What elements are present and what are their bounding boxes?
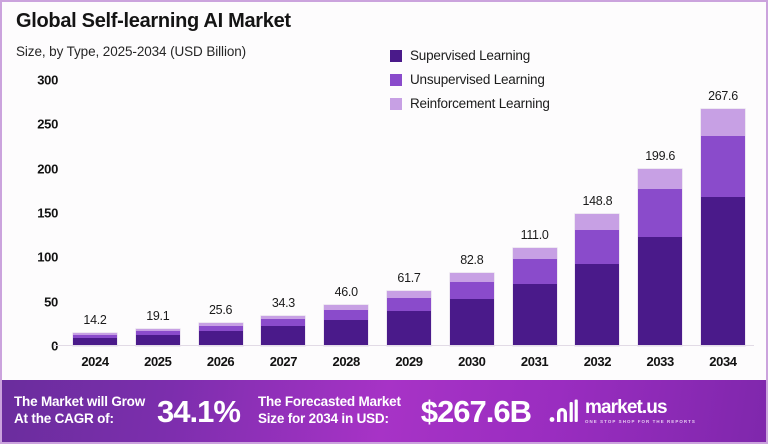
logo-tagline: ONE STOP SHOP FOR THE REPORTS bbox=[585, 419, 696, 424]
bar-group[interactable]: 199.6 bbox=[629, 80, 691, 346]
bar-segment[interactable] bbox=[701, 109, 745, 136]
x-axis-tick-label: 2027 bbox=[252, 354, 314, 378]
bar-segment[interactable] bbox=[450, 282, 494, 299]
bar-segment[interactable] bbox=[575, 230, 619, 264]
x-axis-tick-label: 2029 bbox=[378, 354, 440, 378]
x-axis-tick-label: 2026 bbox=[190, 354, 252, 378]
page-title: Global Self-learning AI Market bbox=[16, 10, 291, 33]
stacked-bar[interactable] bbox=[136, 329, 180, 346]
bar-segment[interactable] bbox=[450, 273, 494, 282]
x-axis-tick-label: 2028 bbox=[315, 354, 377, 378]
stacked-bar[interactable] bbox=[638, 169, 682, 346]
bar-group[interactable]: 111.0 bbox=[504, 80, 566, 346]
forecast-label-line2: Size for 2034 in USD: bbox=[258, 411, 401, 428]
market-us-logo[interactable]: market.us ONE STOP SHOP FOR THE REPORTS bbox=[549, 398, 696, 425]
chart-subtitle: Size, by Type, 2025-2034 (USD Billion) bbox=[16, 44, 246, 59]
stacked-bar[interactable] bbox=[199, 323, 243, 346]
stacked-bar[interactable] bbox=[450, 273, 494, 346]
y-axis-tick-label: 250 bbox=[37, 117, 58, 132]
bar-group[interactable]: 267.6 bbox=[692, 80, 754, 346]
x-axis-tick-label: 2025 bbox=[127, 354, 189, 378]
y-axis-tick-label: 300 bbox=[37, 73, 58, 88]
legend-item-label: Supervised Learning bbox=[410, 48, 530, 63]
bar-segment[interactable] bbox=[513, 248, 557, 260]
y-axis-tick-label: 50 bbox=[44, 294, 58, 309]
forecast-block: The Forecasted Market Size for 2034 in U… bbox=[240, 394, 531, 428]
x-axis-tick-label: 2024 bbox=[64, 354, 126, 378]
bar-group[interactable]: 19.1 bbox=[127, 80, 189, 346]
bar-group[interactable]: 61.7 bbox=[378, 80, 440, 346]
bar-total-label: 25.6 bbox=[209, 303, 232, 317]
y-axis-tick-label: 200 bbox=[37, 161, 58, 176]
bar-segment[interactable] bbox=[324, 310, 368, 320]
x-axis-tick-label: 2033 bbox=[629, 354, 691, 378]
stacked-bar[interactable] bbox=[324, 305, 368, 346]
bar-segment[interactable] bbox=[387, 311, 431, 346]
bar-segment[interactable] bbox=[513, 259, 557, 284]
bar-total-label: 34.3 bbox=[272, 296, 295, 310]
forecast-label-line1: The Forecasted Market bbox=[258, 394, 401, 411]
bar-segment[interactable] bbox=[387, 298, 431, 311]
stacked-bar[interactable] bbox=[261, 316, 305, 346]
cagr-value: 34.1% bbox=[157, 396, 240, 427]
x-axis-tick-label: 2032 bbox=[566, 354, 628, 378]
legend-item[interactable]: Supervised Learning bbox=[390, 48, 550, 63]
bar-total-label: 14.2 bbox=[83, 313, 106, 327]
bar-segment[interactable] bbox=[261, 326, 305, 346]
cagr-block: The Market will Grow At the CAGR of: 34.… bbox=[2, 394, 240, 428]
y-axis: 050100150200250300 bbox=[8, 80, 62, 346]
stacked-bar[interactable] bbox=[387, 291, 431, 346]
axis-baseline bbox=[54, 345, 754, 346]
cagr-label-line1: The Market will Grow bbox=[14, 394, 145, 411]
bar-total-label: 111.0 bbox=[521, 228, 549, 242]
bar-segment[interactable] bbox=[638, 189, 682, 237]
bar-total-label: 82.8 bbox=[460, 253, 483, 267]
bar-segment[interactable] bbox=[701, 197, 745, 346]
bar-group[interactable]: 82.8 bbox=[441, 80, 503, 346]
bar-segment[interactable] bbox=[199, 331, 243, 346]
bar-total-label: 199.6 bbox=[645, 149, 675, 163]
x-axis-tick-label: 2031 bbox=[504, 354, 566, 378]
chart-infographic: Global Self-learning AI Market Size, by … bbox=[0, 0, 768, 444]
forecast-value: $267.6B bbox=[421, 396, 531, 427]
bar-segment[interactable] bbox=[638, 237, 682, 346]
x-axis: 2024202520262027202820292030203120322033… bbox=[64, 354, 754, 378]
stacked-bar[interactable] bbox=[575, 214, 619, 346]
bar-group[interactable]: 14.2 bbox=[64, 80, 126, 346]
logo-wordmark: market.us ONE STOP SHOP FOR THE REPORTS bbox=[585, 398, 696, 425]
bar-segment[interactable] bbox=[513, 284, 557, 346]
bar-group[interactable]: 34.3 bbox=[252, 80, 314, 346]
cagr-label: The Market will Grow At the CAGR of: bbox=[14, 394, 145, 428]
bar-group[interactable]: 46.0 bbox=[315, 80, 377, 346]
logo-name: market.us bbox=[585, 398, 696, 417]
y-axis-tick-label: 100 bbox=[37, 250, 58, 265]
bar-total-label: 61.7 bbox=[397, 271, 420, 285]
y-axis-tick-label: 0 bbox=[51, 339, 58, 354]
bar-segment[interactable] bbox=[261, 319, 305, 326]
bar-group[interactable]: 25.6 bbox=[190, 80, 252, 346]
bar-group[interactable]: 148.8 bbox=[566, 80, 628, 346]
bar-segment[interactable] bbox=[575, 264, 619, 346]
summary-banner: The Market will Grow At the CAGR of: 34.… bbox=[2, 380, 766, 442]
bar-total-label: 19.1 bbox=[146, 309, 169, 323]
x-axis-tick-label: 2034 bbox=[692, 354, 754, 378]
bar-segment[interactable] bbox=[324, 320, 368, 346]
x-axis-tick-label: 2030 bbox=[441, 354, 503, 378]
forecast-label: The Forecasted Market Size for 2034 in U… bbox=[258, 394, 401, 428]
stacked-bar[interactable] bbox=[513, 248, 557, 346]
bar-total-label: 46.0 bbox=[335, 285, 358, 299]
plot-area: 14.219.125.634.346.061.782.8111.0148.819… bbox=[64, 80, 754, 346]
bar-segment[interactable] bbox=[575, 214, 619, 230]
y-axis-tick-label: 150 bbox=[37, 206, 58, 221]
bar-total-label: 148.8 bbox=[582, 194, 612, 208]
bar-total-label: 267.6 bbox=[708, 89, 738, 103]
bar-chart-logo-icon bbox=[549, 399, 579, 423]
bar-segment[interactable] bbox=[450, 299, 494, 346]
bar-segment[interactable] bbox=[638, 169, 682, 189]
stacked-bar[interactable] bbox=[701, 109, 745, 346]
bar-segment[interactable] bbox=[701, 136, 745, 197]
legend-color-swatch bbox=[390, 50, 402, 62]
bar-series-container: 14.219.125.634.346.061.782.8111.0148.819… bbox=[64, 80, 754, 346]
cagr-label-line2: At the CAGR of: bbox=[14, 411, 145, 428]
